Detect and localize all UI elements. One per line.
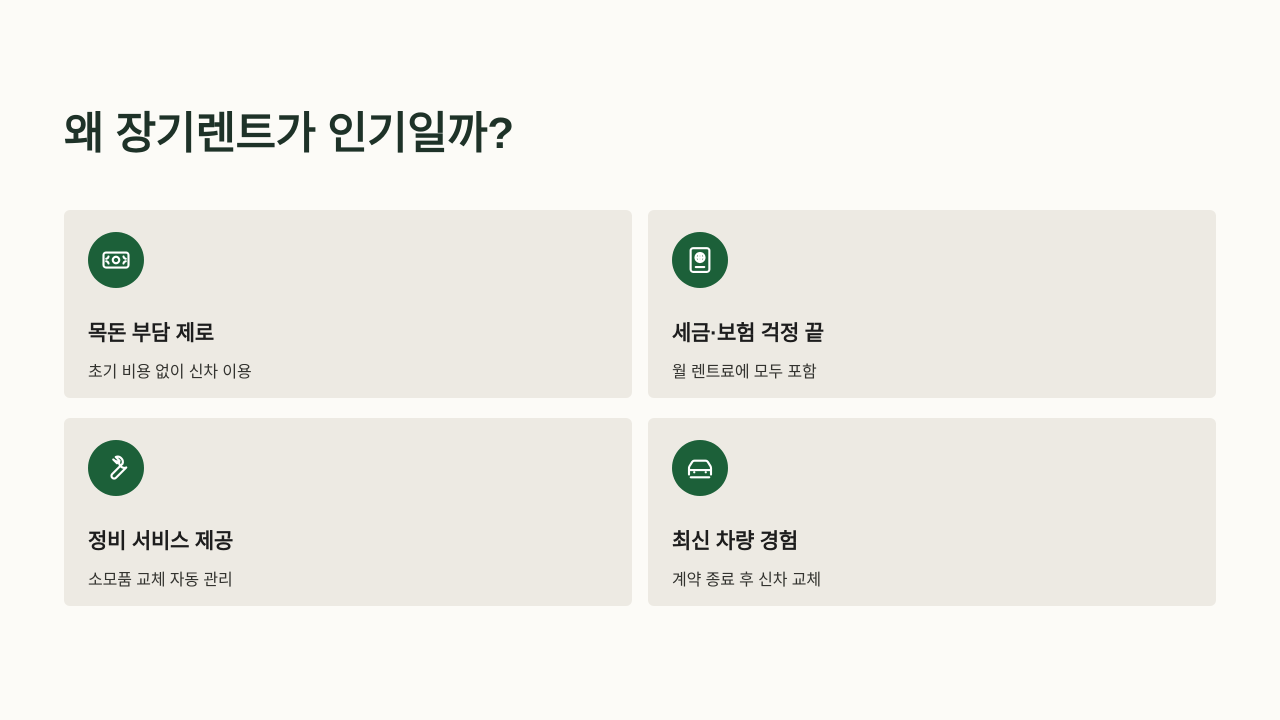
car-front-icon [685,453,715,483]
wrench-icon [101,453,131,483]
card-description: 월 렌트료에 모두 포함 [672,362,1192,384]
card-title: 정비 서비스 제공 [88,528,608,555]
card-icon-badge [672,440,728,496]
slide-root: 왜 장기렌트가 인기일까? 목돈 부담 제로 초기 비용 없이 신차 이용 [0,0,1280,720]
banknote-icon [101,245,131,275]
card-title: 목돈 부담 제로 [88,320,608,347]
page-title: 왜 장기렌트가 인기일까? [64,108,514,161]
card-description: 계약 종료 후 신차 교체 [672,570,1192,592]
card-description: 초기 비용 없이 신차 이용 [88,362,608,384]
card-title: 최신 차량 경험 [672,528,1192,555]
card-icon-badge [88,440,144,496]
feature-card[interactable]: 최신 차량 경험 계약 종료 후 신차 교체 [648,418,1216,606]
feature-card-grid: 목돈 부담 제로 초기 비용 없이 신차 이용 세금·보험 걱정 끝 월 렌트료… [64,210,1216,606]
feature-card[interactable]: 목돈 부담 제로 초기 비용 없이 신차 이용 [64,210,632,398]
card-icon-badge [88,232,144,288]
feature-card[interactable]: 정비 서비스 제공 소모품 교체 자동 관리 [64,418,632,606]
card-description: 소모품 교체 자동 관리 [88,570,608,592]
passport-globe-icon [685,245,715,275]
card-icon-badge [672,232,728,288]
feature-card[interactable]: 세금·보험 걱정 끝 월 렌트료에 모두 포함 [648,210,1216,398]
card-title: 세금·보험 걱정 끝 [672,320,1192,347]
